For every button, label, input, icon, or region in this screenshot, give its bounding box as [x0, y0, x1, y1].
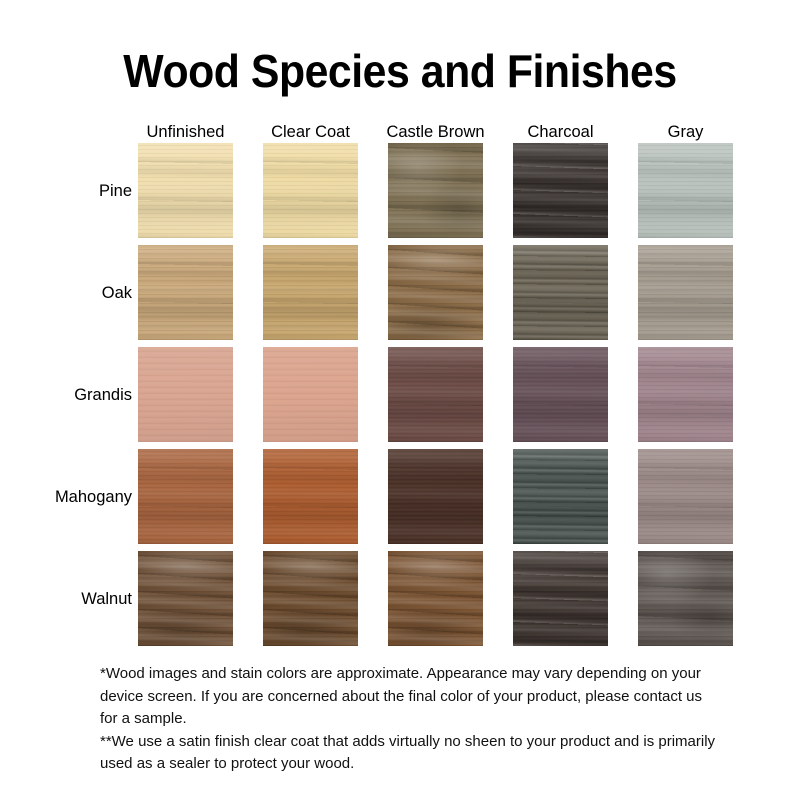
swatch-mahogany-clear-coat[interactable] — [263, 449, 358, 544]
swatch-mahogany-charcoal[interactable] — [513, 449, 608, 544]
swatch-pine-unfinished[interactable] — [138, 143, 233, 238]
row-label-grandis: Grandis — [74, 387, 132, 404]
swatch-oak-clear-coat[interactable] — [263, 245, 358, 340]
column-header-castle-brown: Castle Brown — [363, 124, 508, 141]
swatch-pine-charcoal[interactable] — [513, 143, 608, 238]
footnote-colors: *Wood images and stain colors are approx… — [100, 663, 720, 731]
swatch-grandis-castle-brown[interactable] — [388, 347, 483, 442]
swatch-oak-unfinished[interactable] — [138, 245, 233, 340]
column-header-charcoal: Charcoal — [488, 124, 633, 141]
row-label-walnut: Walnut — [81, 591, 132, 608]
swatch-pine-castle-brown[interactable] — [388, 143, 483, 238]
swatch-pine-clear-coat[interactable] — [263, 143, 358, 238]
swatch-walnut-charcoal[interactable] — [513, 551, 608, 646]
swatch-pine-gray[interactable] — [638, 143, 733, 238]
row-label-pine: Pine — [99, 183, 132, 200]
footnotes: *Wood images and stain colors are approx… — [100, 663, 720, 776]
swatch-grandis-unfinished[interactable] — [138, 347, 233, 442]
footnote-clear-coat: **We use a satin finish clear coat that … — [100, 731, 720, 776]
swatch-mahogany-gray[interactable] — [638, 449, 733, 544]
column-header-unfinished: Unfinished — [113, 124, 258, 141]
wood-finish-chart: Wood Species and Finishes UnfinishedClea… — [0, 0, 800, 800]
swatch-walnut-gray[interactable] — [638, 551, 733, 646]
swatch-mahogany-castle-brown[interactable] — [388, 449, 483, 544]
column-header-gray: Gray — [613, 124, 758, 141]
swatch-walnut-clear-coat[interactable] — [263, 551, 358, 646]
swatch-mahogany-unfinished[interactable] — [138, 449, 233, 544]
column-header-clear-coat: Clear Coat — [238, 124, 383, 141]
swatch-grandis-charcoal[interactable] — [513, 347, 608, 442]
swatch-oak-charcoal[interactable] — [513, 245, 608, 340]
swatch-grandis-clear-coat[interactable] — [263, 347, 358, 442]
swatch-oak-gray[interactable] — [638, 245, 733, 340]
swatch-walnut-unfinished[interactable] — [138, 551, 233, 646]
swatch-oak-castle-brown[interactable] — [388, 245, 483, 340]
swatch-walnut-castle-brown[interactable] — [388, 551, 483, 646]
row-label-oak: Oak — [102, 285, 132, 302]
swatch-grandis-gray[interactable] — [638, 347, 733, 442]
row-label-mahogany: Mahogany — [55, 489, 132, 506]
